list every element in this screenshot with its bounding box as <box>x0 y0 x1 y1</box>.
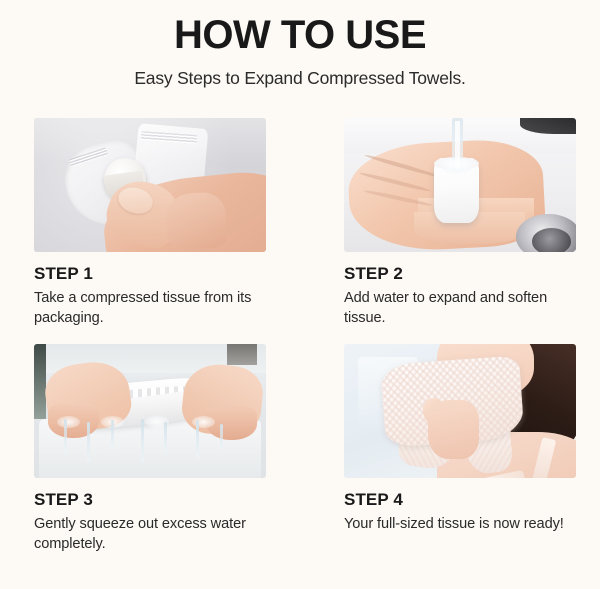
step-4-caption: STEP 4 Your full-sized tissue is now rea… <box>344 478 576 535</box>
step-4-text: Your full-sized tissue is now ready! <box>344 510 569 535</box>
step-card-1: STEP 1 Take a compressed tissue from its… <box>34 118 266 328</box>
step-card-2: STEP 2 Add water to expand and soften ti… <box>344 118 576 328</box>
step-3-text: Gently squeeze out excess water complete… <box>34 510 259 554</box>
water-drip-5 <box>164 422 167 454</box>
header: HOW TO USE Easy Steps to Expand Compress… <box>0 0 600 89</box>
steps-grid: STEP 1 Take a compressed tissue from its… <box>34 118 568 554</box>
step-2-photo <box>344 118 576 252</box>
step-2-caption: STEP 2 Add water to expand and soften ti… <box>344 252 576 328</box>
step-1-label: STEP 1 <box>34 264 266 284</box>
page-subtitle: Easy Steps to Expand Compressed Towels. <box>0 57 600 89</box>
water-drip-6 <box>196 420 199 458</box>
compressed-tissue-scene <box>34 118 266 252</box>
step-4-label: STEP 4 <box>344 490 576 510</box>
step-1-text: Take a compressed tissue from its packag… <box>34 284 259 328</box>
index-finger <box>164 191 228 251</box>
water-drip-2 <box>87 422 90 462</box>
step-2-text: Add water to expand and soften tissue. <box>344 284 569 328</box>
page-title: HOW TO USE <box>0 0 600 57</box>
adding-water-scene <box>344 118 576 252</box>
wiping-face-scene <box>344 344 576 478</box>
step-3-caption: STEP 3 Gently squeeze out excess water c… <box>34 478 266 554</box>
faucet-inner <box>532 228 571 252</box>
step-card-3: STEP 3 Gently squeeze out excess water c… <box>34 344 266 554</box>
dark-left-edge <box>34 344 46 419</box>
step-1-caption: STEP 1 Take a compressed tissue from its… <box>34 252 266 328</box>
steps-row-1: STEP 1 Take a compressed tissue from its… <box>34 118 568 328</box>
photo-glare <box>34 118 266 164</box>
step-4-photo <box>344 344 576 478</box>
water-drip-7 <box>220 424 223 451</box>
step-2-label: STEP 2 <box>344 264 576 284</box>
hand-holding-towel <box>428 400 479 459</box>
water-drip-4 <box>141 419 144 462</box>
steps-row-2: STEP 3 Gently squeeze out excess water c… <box>34 344 568 554</box>
dark-right-edge <box>227 344 257 365</box>
squeezing-towel-scene <box>34 344 266 478</box>
step-3-label: STEP 3 <box>34 490 266 510</box>
step-card-4: STEP 4 Your full-sized tissue is now rea… <box>344 344 576 554</box>
how-to-use-infographic: HOW TO USE Easy Steps to Expand Compress… <box>0 0 600 589</box>
step-3-photo <box>34 344 266 478</box>
water-drip-1 <box>64 419 67 454</box>
water-drip-3 <box>111 420 114 449</box>
water-splash <box>441 158 471 174</box>
step-1-photo <box>34 118 266 252</box>
